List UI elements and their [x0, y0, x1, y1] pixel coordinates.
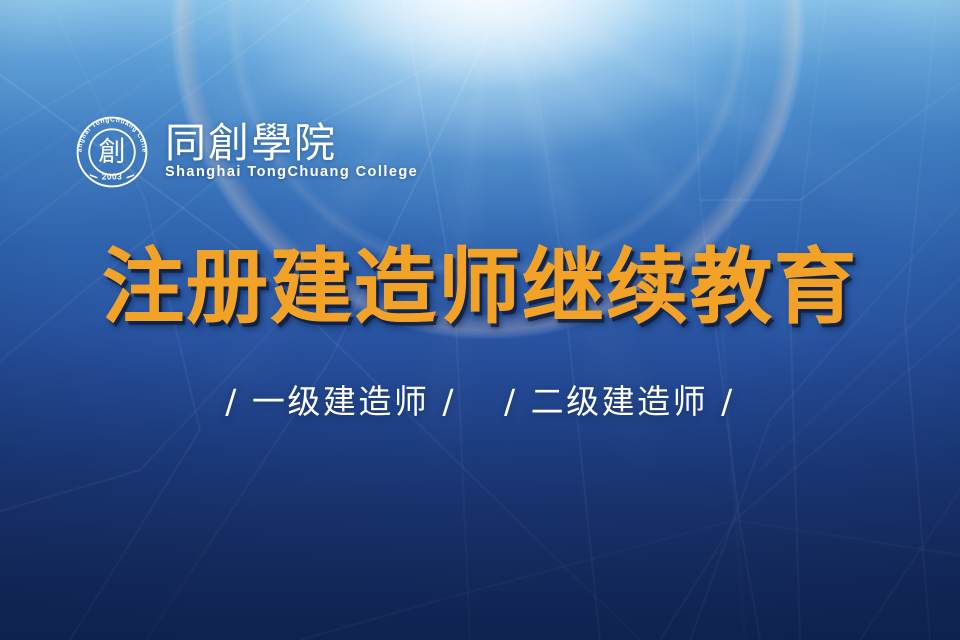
svg-text:創: 創	[98, 137, 125, 168]
subtitle-item-level-2: / 二级建造师 /	[504, 382, 735, 421]
college-seal-icon: Shanghai TongChuang College 創 2003	[72, 112, 152, 192]
page-title: 注册建造师继续教育	[0, 245, 960, 332]
subtitle: / 一级建造师 / / 二级建造师 /	[0, 382, 960, 422]
subtitle-item-level-1: / 一级建造师 /	[225, 382, 456, 421]
brand-name-cn: 同創學院	[165, 123, 418, 165]
banner-content: Shanghai TongChuang College 創 2003 同創學院 …	[0, 0, 960, 640]
brand-logo: Shanghai TongChuang College 創 2003 同創學院 …	[72, 112, 418, 192]
svg-text:2003: 2003	[102, 172, 123, 182]
brand-wordmark: 同創學院 Shanghai TongChuang College	[165, 123, 418, 182]
promo-banner: Shanghai TongChuang College 創 2003 同創學院 …	[0, 0, 960, 640]
brand-name-en: Shanghai TongChuang College	[165, 165, 418, 181]
